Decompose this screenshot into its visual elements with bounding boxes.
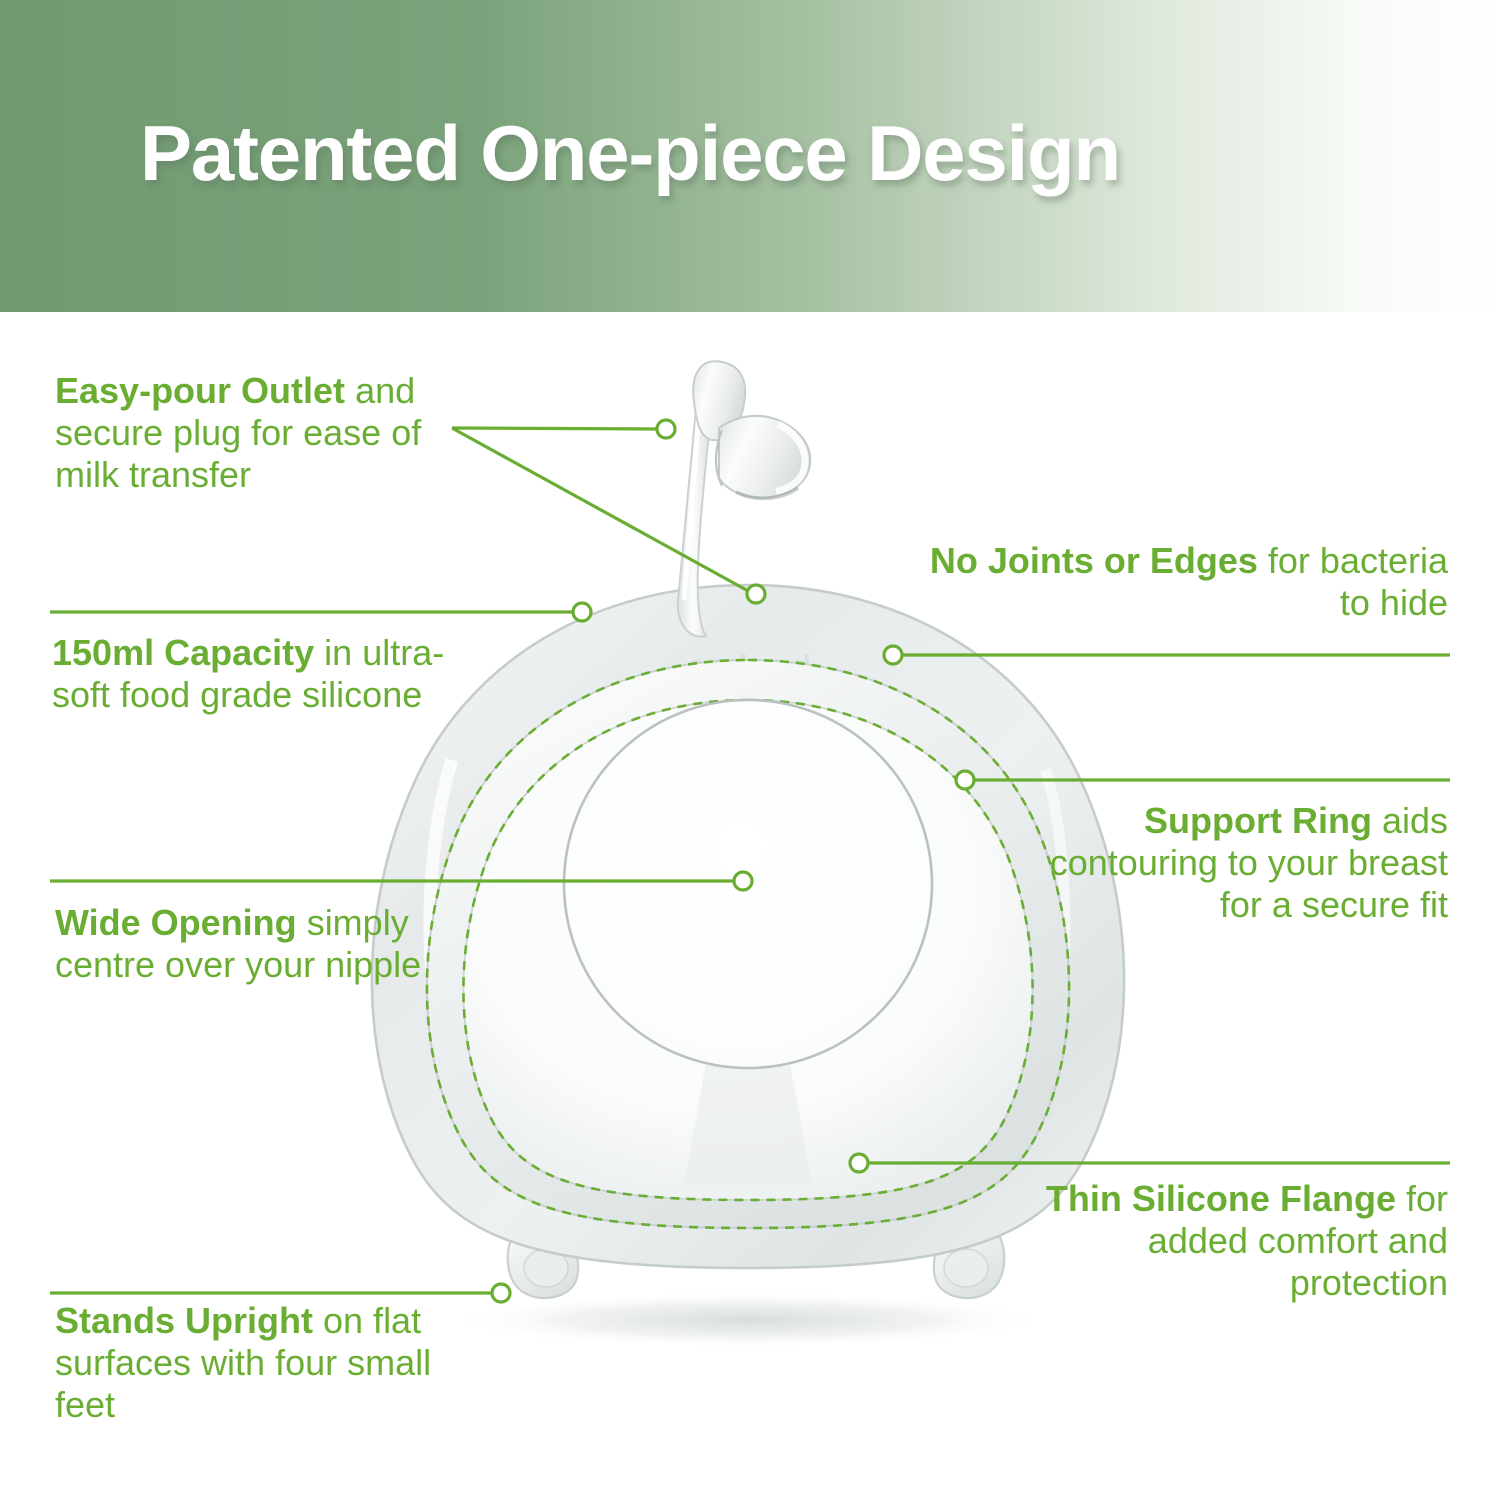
- callout-no-joints: No Joints or Edges for bacteria to hide: [928, 540, 1448, 624]
- leader-capacity: [50, 603, 591, 621]
- callout-capacity: 150ml Capacity in ultra-soft food grade …: [52, 632, 452, 716]
- product-shadow: [448, 1292, 1048, 1348]
- callout-heading: Easy-pour Outlet: [55, 370, 345, 411]
- callout-thin-flange: Thin Silicone Flange for added comfort a…: [1028, 1178, 1448, 1304]
- callout-body: for bacteria to hide: [1268, 540, 1448, 623]
- callout-heading: Stands Upright: [55, 1300, 313, 1341]
- callout-heading-2: Flange: [1280, 1178, 1396, 1219]
- callout-heading: Support Ring: [1144, 800, 1372, 841]
- callout-heading: No Joints or Edges: [930, 540, 1258, 581]
- callout-support-ring: Support Ring aids contouring to your bre…: [1028, 800, 1448, 926]
- callout-stands-upright: Stands Upright on flat surfaces with fou…: [55, 1300, 495, 1426]
- callout-heading: 150ml Capacity: [52, 632, 314, 673]
- callout-heading: Thin Silicone: [1046, 1178, 1270, 1219]
- callout-wide-opening: Wide Opening simply centre over your nip…: [55, 902, 455, 986]
- callout-heading: Wide Opening: [55, 902, 297, 943]
- callout-easy-pour-outlet: Easy-pour Outlet and secure plug for eas…: [55, 370, 485, 496]
